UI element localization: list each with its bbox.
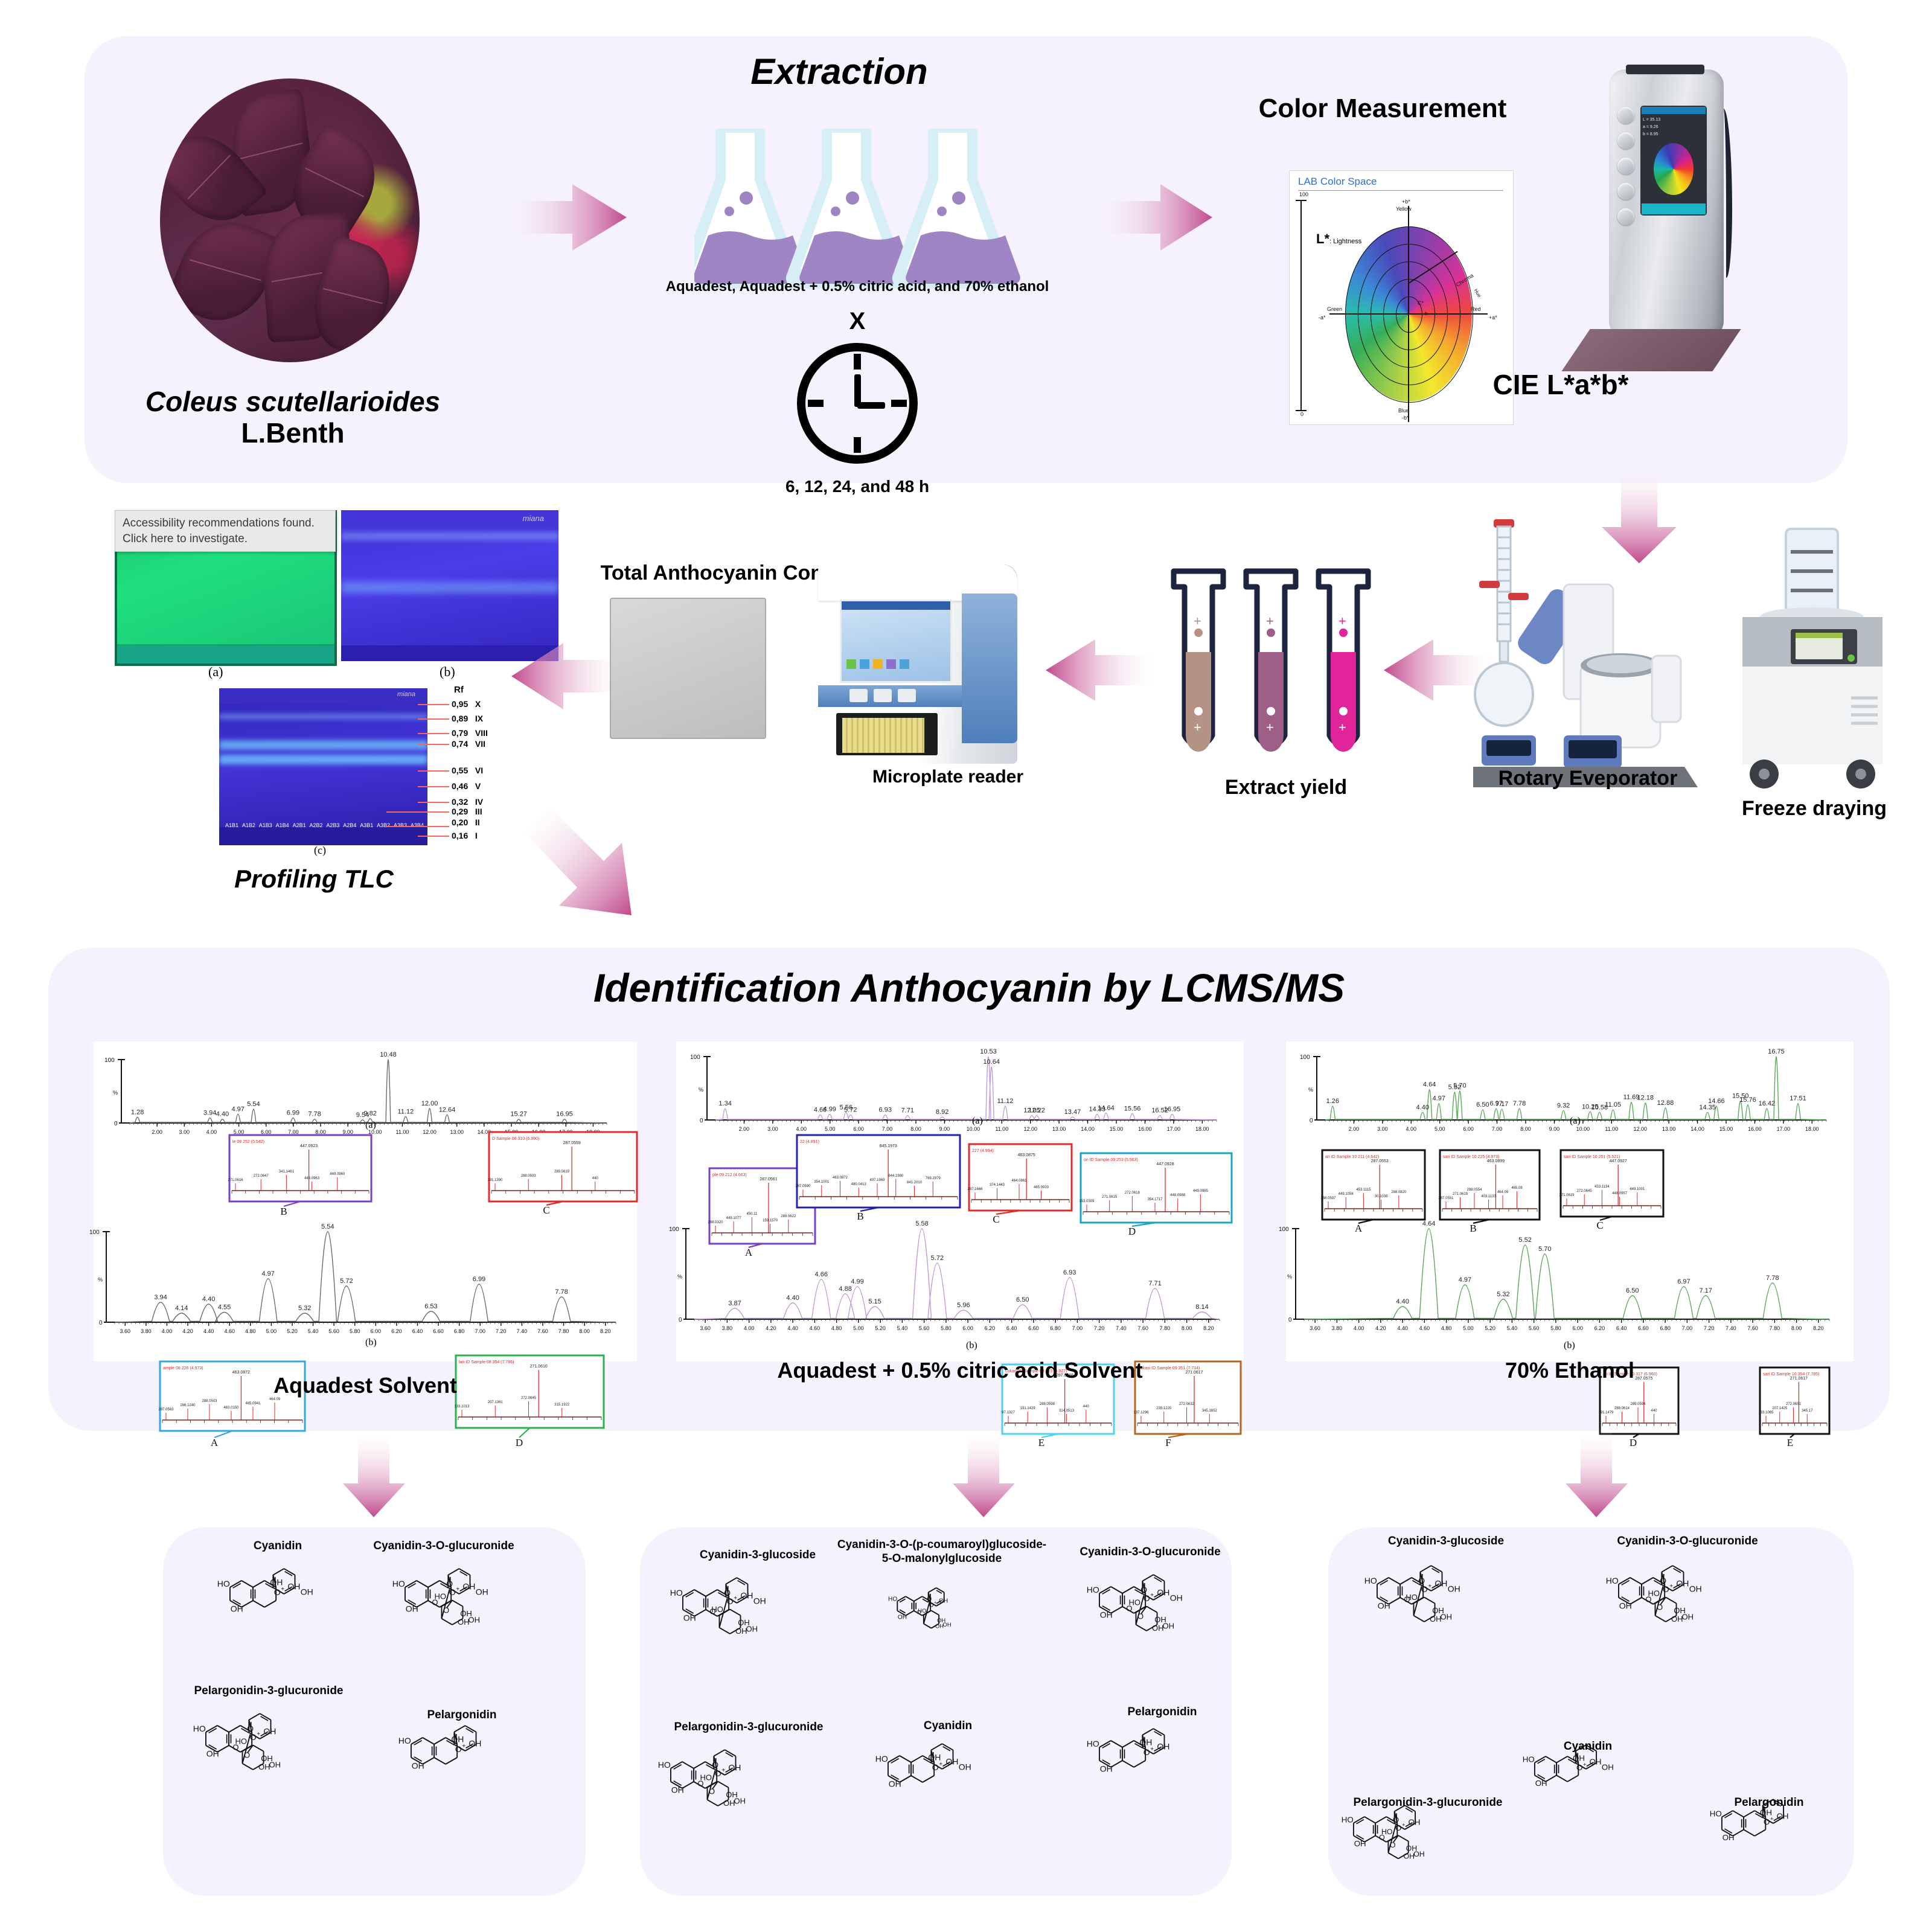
svg-text:O: O (250, 1732, 257, 1742)
svg-text:OH: OH (451, 1735, 464, 1744)
svg-text:HO: HO (1606, 1576, 1619, 1585)
compound-name: Cyanidin-3-glucoside (667, 1549, 848, 1563)
svg-text:OH: OH (738, 1618, 750, 1627)
svg-text:OH: OH (1409, 1818, 1421, 1827)
svg-text:O: O (1140, 1585, 1147, 1595)
svg-text:+: + (721, 1767, 725, 1774)
svg-text:HO: HO (1087, 1739, 1099, 1748)
svg-text:OH: OH (939, 1598, 948, 1604)
svg-text:OH: OH (1573, 1753, 1585, 1762)
compound-name: Cyanidin-3-O-(p-coumaroyl)glucoside-5-O-… (833, 1538, 1051, 1566)
svg-text:OH: OH (1170, 1593, 1183, 1603)
svg-text:HO: HO (1342, 1815, 1354, 1825)
svg-text:OH: OH (1154, 1615, 1166, 1624)
svg-text:OH: OH (287, 1581, 300, 1591)
compound-name: Pelargonidin (1105, 1706, 1220, 1719)
svg-text:O: O (443, 1605, 449, 1614)
svg-text:OH: OH (753, 1596, 766, 1606)
svg-text:O: O (709, 1786, 715, 1796)
svg-text:HO: HO (1087, 1585, 1099, 1595)
svg-text:OH: OH (1378, 1601, 1390, 1611)
svg-text:OH: OH (683, 1613, 696, 1623)
compound-name: Cyanidin (894, 1719, 1002, 1733)
svg-text:HO: HO (1710, 1809, 1722, 1818)
svg-text:OH: OH (1448, 1584, 1460, 1594)
svg-text:HO: HO (658, 1760, 671, 1770)
svg-text:HO: HO (1406, 1593, 1418, 1602)
svg-text:OH: OH (1139, 1738, 1152, 1747)
svg-text:O: O (1137, 1611, 1144, 1620)
svg-text:HO: HO (1128, 1598, 1140, 1607)
svg-text:OH: OH (1406, 1844, 1418, 1852)
svg-text:+: + (734, 1595, 737, 1602)
svg-text:O: O (274, 1587, 281, 1597)
compound-name: Pelargonidin-3-glucuronide (1331, 1796, 1524, 1810)
svg-text:OH: OH (671, 1785, 684, 1795)
svg-text:OH: OH (1602, 1763, 1614, 1772)
svg-text:HO: HO (1381, 1828, 1393, 1836)
svg-text:O: O (712, 1760, 718, 1770)
compound-name: Cyanidin-3-O-glucuronide (1597, 1535, 1778, 1549)
svg-text:+: + (1150, 1592, 1154, 1599)
svg-text:OH: OH (1435, 1578, 1447, 1588)
svg-text:OH: OH (261, 1754, 273, 1763)
svg-text:HO: HO (888, 1596, 897, 1602)
svg-text:OH: OH (1535, 1779, 1547, 1788)
svg-text:+: + (934, 1599, 936, 1605)
svg-text:O: O (1764, 1817, 1770, 1826)
svg-text:OH: OH (959, 1762, 971, 1772)
svg-text:OH: OH (1100, 1764, 1113, 1774)
svg-text:OH: OH (1157, 1587, 1169, 1597)
svg-text:O: O (1418, 1576, 1425, 1585)
svg-text:+: + (1428, 1583, 1431, 1590)
svg-text:OH: OH (1777, 1812, 1789, 1821)
svg-text:+: + (1402, 1822, 1406, 1828)
svg-text:OH: OH (231, 1604, 243, 1614)
compound-name: Cyanidin-3-O-glucuronide (1063, 1546, 1238, 1559)
svg-text:OH: OH (412, 1761, 424, 1771)
svg-text:OH: OH (460, 1609, 472, 1618)
svg-text:OH: OH (469, 1738, 481, 1748)
svg-text:OH: OH (1157, 1741, 1169, 1751)
svg-text:O: O (446, 1579, 453, 1588)
svg-text:OH: OH (263, 1726, 276, 1736)
svg-text:HO: HO (670, 1588, 683, 1598)
svg-text:OH: OH (1432, 1606, 1444, 1615)
svg-text:OH: OH (1100, 1610, 1113, 1620)
svg-text:OH: OH (270, 1578, 283, 1587)
svg-text:HO: HO (217, 1579, 230, 1588)
svg-text:OH: OH (462, 1581, 475, 1591)
svg-text:OH: OH (728, 1762, 741, 1772)
svg-text:O: O (1576, 1763, 1582, 1772)
svg-text:HO: HO (1523, 1755, 1535, 1764)
svg-text:+: + (1669, 1583, 1673, 1590)
svg-text:HO: HO (392, 1579, 405, 1588)
svg-text:O: O (247, 1724, 254, 1733)
svg-text:HO: HO (1648, 1588, 1660, 1598)
svg-text:O: O (455, 1744, 462, 1754)
svg-text:O: O (244, 1750, 250, 1759)
svg-text:HO: HO (193, 1724, 206, 1733)
compound-name: Cyanidin (211, 1540, 344, 1553)
svg-text:HO: HO (434, 1591, 446, 1601)
svg-text:OH: OH (1674, 1606, 1686, 1615)
svg-text:O: O (727, 1596, 734, 1606)
svg-text:O: O (1395, 1823, 1401, 1832)
svg-text:O: O (927, 1596, 932, 1602)
svg-text:HO: HO (235, 1736, 247, 1745)
compound-name: Pelargonidin-3-glucuronide (169, 1684, 368, 1698)
svg-text:+: + (456, 1586, 459, 1593)
molecule-drawings: O+HOOHOHOHOHO+HOOHOHOHOOOHOHOHHOOO+HOOHO… (0, 0, 1932, 1932)
compound-name: Pelargonidin (1709, 1796, 1829, 1810)
svg-text:OH: OH (1689, 1584, 1702, 1594)
svg-text:OH: OH (1619, 1601, 1632, 1611)
svg-text:O: O (724, 1588, 731, 1598)
compound-name: Pelargonidin-3-glucuronide (658, 1721, 839, 1735)
svg-text:OH: OH (1354, 1839, 1366, 1848)
svg-text:O: O (1390, 1841, 1396, 1849)
svg-text:HO: HO (711, 1605, 723, 1614)
compound-name: Cyanidin-3-glucoside (1355, 1535, 1537, 1549)
svg-text:O: O (1657, 1602, 1663, 1611)
svg-text:O: O (1663, 1584, 1669, 1594)
svg-text:OH: OH (945, 1756, 958, 1766)
compound-name: Cyanidin-3-O-glucuronide (344, 1540, 543, 1553)
svg-text:OH: OH (726, 1790, 738, 1799)
svg-text:O: O (1393, 1815, 1399, 1825)
svg-text:OH: OH (1722, 1833, 1735, 1842)
svg-text:O: O (1144, 1747, 1150, 1757)
svg-text:HO: HO (398, 1736, 411, 1745)
svg-text:+: + (257, 1731, 260, 1738)
compound-name: Cyanidin (1534, 1740, 1642, 1754)
svg-text:OH: OH (1590, 1758, 1602, 1767)
svg-text:HO: HO (875, 1754, 888, 1764)
svg-text:O: O (1660, 1576, 1666, 1585)
svg-text:O: O (1421, 1584, 1428, 1594)
svg-text:OH: OH (937, 1617, 945, 1623)
compound-name: Pelargonidin (392, 1709, 531, 1722)
svg-text:O: O (715, 1768, 721, 1778)
svg-text:O: O (932, 1762, 939, 1772)
svg-text:HO: HO (918, 1608, 926, 1614)
svg-text:OH: OH (740, 1590, 753, 1600)
svg-text:OH: OH (898, 1614, 907, 1620)
svg-text:O: O (1144, 1593, 1150, 1603)
svg-text:OH: OH (301, 1587, 313, 1597)
svg-text:O: O (449, 1587, 456, 1597)
svg-text:HO: HO (1364, 1576, 1377, 1585)
svg-text:OH: OH (206, 1749, 219, 1759)
svg-text:OH: OH (476, 1587, 488, 1597)
svg-text:OH: OH (406, 1604, 418, 1614)
svg-text:OH: OH (1676, 1578, 1689, 1588)
svg-text:HO: HO (700, 1773, 712, 1782)
svg-text:OH: OH (889, 1779, 901, 1789)
svg-text:OH: OH (928, 1753, 941, 1762)
